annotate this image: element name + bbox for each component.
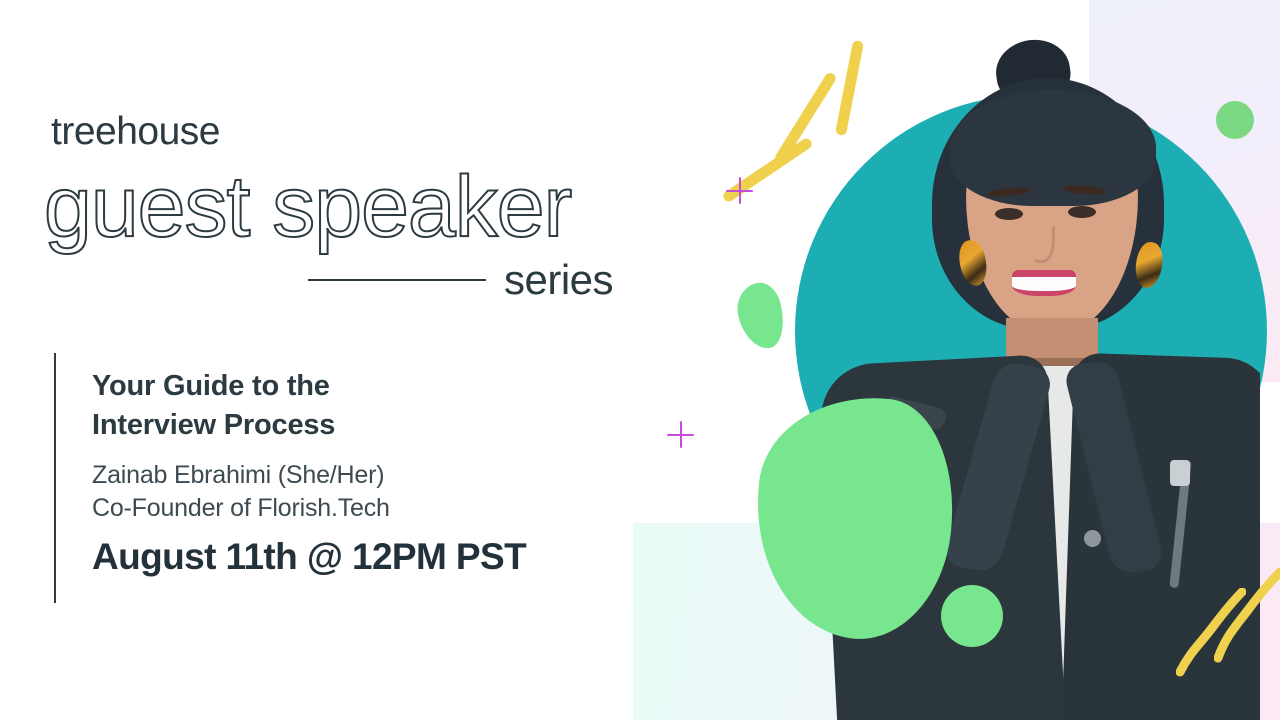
headline-guest-speaker: guest speaker [44,158,571,257]
session-title-line1: Your Guide to the [92,367,512,406]
jacket-stud [1084,530,1101,547]
speaker-name: Zainab Ebrahimi (She/Her) [92,461,384,490]
smile-mouth [1012,270,1076,296]
promo-graphic: treehouse guest speaker series Your Guid… [0,0,1280,720]
session-title-line2: Interview Process [92,406,512,445]
plus-mark-icon [726,177,753,204]
eye-right [1068,206,1096,218]
green-bean-shape [732,279,791,354]
squiggle-stroke-icon [1214,568,1280,663]
vertical-accent-rule [54,353,56,603]
brand-name: treehouse [51,110,220,154]
series-label: series [504,256,613,304]
session-datetime: August 11th @ 12PM PST [92,536,526,578]
speaker-role: Co-Founder of Florish.Tech [92,494,390,523]
series-row: series [308,256,628,304]
session-title: Your Guide to the Interview Process [92,367,512,444]
green-dot-bottom-shape [941,585,1003,647]
hair-front [950,90,1156,206]
series-divider-rule [308,279,486,281]
eye-left [995,208,1023,220]
plus-mark-icon [667,421,694,448]
jacket-zipper-pull [1170,460,1190,486]
